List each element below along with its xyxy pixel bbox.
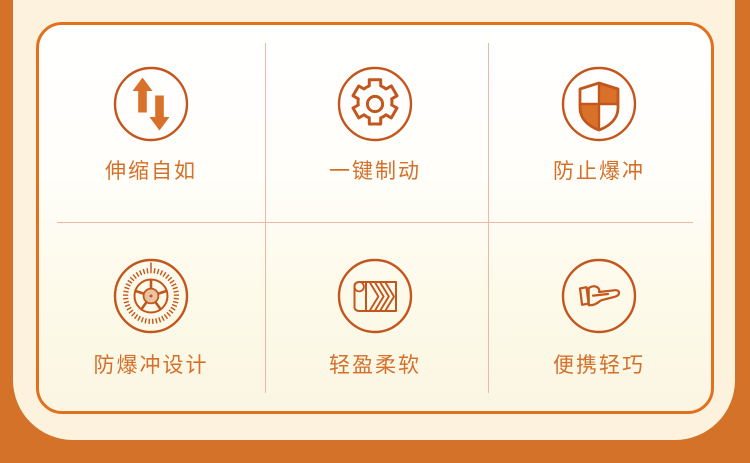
feature-label: 轻盈柔软 <box>329 355 421 376</box>
feature-cell-one-key-brake[interactable]: 一键制动 <box>263 25 487 218</box>
feature-label: 防止爆冲 <box>553 161 645 182</box>
feature-cell-retractable[interactable]: 伸缩自如 <box>39 25 263 218</box>
feature-label: 防爆冲设计 <box>94 355 209 376</box>
feature-cell-burst-proof-design[interactable]: 防爆冲设计 <box>39 218 263 411</box>
feature-grid: 伸缩自如 一键制动 <box>39 25 711 411</box>
up-down-arrows-icon <box>108 61 194 147</box>
shield-icon <box>556 61 642 147</box>
feature-label: 伸缩自如 <box>105 161 197 182</box>
feature-cell-anti-burst[interactable]: 防止爆冲 <box>487 25 711 218</box>
gear-icon <box>332 61 418 147</box>
feature-label: 便携轻巧 <box>553 355 645 376</box>
pointing-hand-icon <box>556 253 642 339</box>
rolled-mat-icon <box>332 253 418 339</box>
feature-label: 一键制动 <box>329 161 421 182</box>
feature-cell-light-soft[interactable]: 轻盈柔软 <box>263 218 487 411</box>
sprocket-wheel-icon <box>108 253 194 339</box>
feature-card: 伸缩自如 一键制动 <box>36 22 714 414</box>
promo-feature-panel: 伸缩自如 一键制动 <box>0 0 750 463</box>
feature-cell-portable[interactable]: 便携轻巧 <box>487 218 711 411</box>
